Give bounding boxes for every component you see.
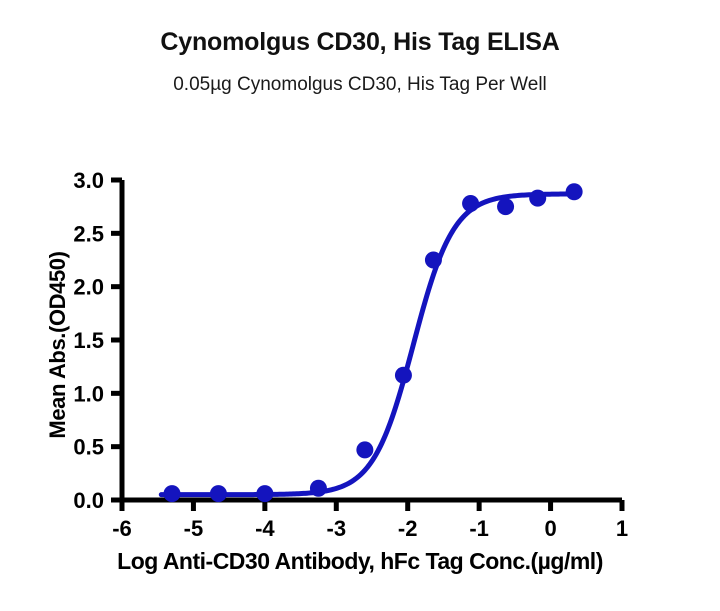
data-point	[310, 480, 327, 497]
x-tick-label: -1	[469, 516, 489, 541]
data-point	[164, 485, 181, 502]
x-tick-label: -3	[327, 516, 347, 541]
y-axis-tick-labels: 0.00.51.01.52.02.53.0	[73, 168, 104, 513]
elisa-chart-figure: Cynomolgus CD30, His Tag ELISA 0.05µg Cy…	[0, 0, 720, 611]
data-point	[425, 252, 442, 269]
x-tick-label: -2	[398, 516, 418, 541]
y-tick-label: 0.0	[73, 488, 104, 513]
data-point	[462, 195, 479, 212]
data-point	[256, 485, 273, 502]
x-tick-label: 0	[544, 516, 556, 541]
plot-area: -6-5-4-3-2-101 0.00.51.01.52.02.53.0	[0, 0, 720, 611]
data-point	[395, 367, 412, 384]
data-point	[566, 183, 583, 200]
data-point	[210, 485, 227, 502]
x-tick-label: 1	[616, 516, 628, 541]
data-point	[497, 198, 514, 215]
x-axis-tick-labels: -6-5-4-3-2-101	[112, 516, 628, 541]
data-point	[529, 190, 546, 207]
y-tick-label: 1.5	[73, 328, 104, 353]
y-tick-label: 2.5	[73, 221, 104, 246]
y-tick-label: 1.0	[73, 381, 104, 406]
data-point-markers	[164, 183, 583, 502]
x-tick-label: -5	[184, 516, 204, 541]
x-tick-label: -6	[112, 516, 132, 541]
x-tick-label: -4	[255, 516, 275, 541]
y-tick-label: 3.0	[73, 168, 104, 193]
data-point	[356, 441, 373, 458]
y-tick-label: 0.5	[73, 435, 104, 460]
y-tick-label: 2.0	[73, 275, 104, 300]
